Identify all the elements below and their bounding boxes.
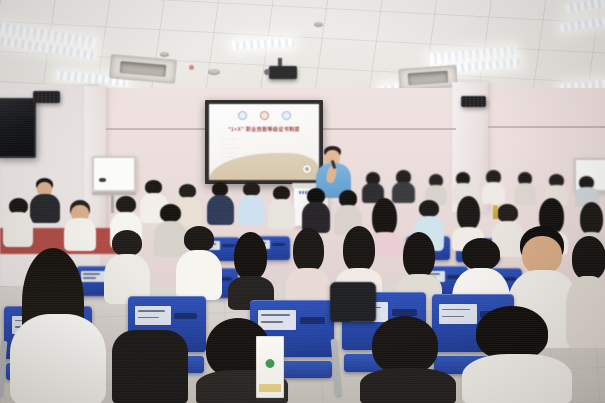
slide-logo-icon (282, 111, 291, 120)
attendee (176, 226, 222, 298)
attendee (207, 182, 234, 224)
wall-speaker (33, 91, 60, 103)
whiteboard-tray (92, 192, 136, 195)
smoke-detector (160, 52, 169, 57)
wall-mounted-tv (0, 98, 36, 158)
slide-logo-icon (260, 111, 269, 120)
ceiling-projector (269, 66, 297, 79)
attendee (104, 230, 150, 302)
attendee (268, 186, 295, 228)
slide-logo-icon (238, 111, 247, 120)
wall-trim-line (488, 126, 605, 128)
whiteboard (92, 156, 136, 192)
slide-title: “1+X” 职业技能等级证书制度 (209, 126, 319, 133)
smoke-detector (208, 69, 220, 75)
attendee (302, 188, 330, 232)
attendee-foreground (360, 316, 456, 403)
bag-stripe (259, 384, 281, 392)
water-bottle (493, 205, 498, 219)
attendee-foreground (10, 248, 106, 403)
whiteboard-marker (99, 178, 106, 182)
projection-screen: “1+X” 职业技能等级证书制度 ················ ······… (205, 100, 323, 184)
attendee (286, 228, 330, 302)
attendee (30, 178, 60, 222)
attendee (238, 182, 265, 224)
smoke-detector (314, 22, 323, 27)
wall-speaker (461, 96, 486, 107)
sprinkler-head (189, 65, 194, 70)
backpack (330, 282, 376, 322)
slide-logo-row (209, 111, 319, 120)
photo-scene: “1+X” 职业技能等级证书制度 ················ ······… (0, 0, 605, 403)
slide-seal-icon (302, 164, 312, 174)
attendee (64, 200, 96, 250)
paper-gift-bag (256, 336, 284, 398)
attendee-foreground (112, 330, 188, 403)
attendee-foreground (462, 306, 572, 403)
bag-logo-icon (266, 359, 275, 368)
attendee (228, 232, 274, 308)
attendee (514, 172, 536, 204)
projected-slide: “1+X” 职业技能等级证书制度 ················ ······… (209, 104, 319, 180)
attendee (3, 198, 33, 246)
attendee (482, 170, 505, 203)
